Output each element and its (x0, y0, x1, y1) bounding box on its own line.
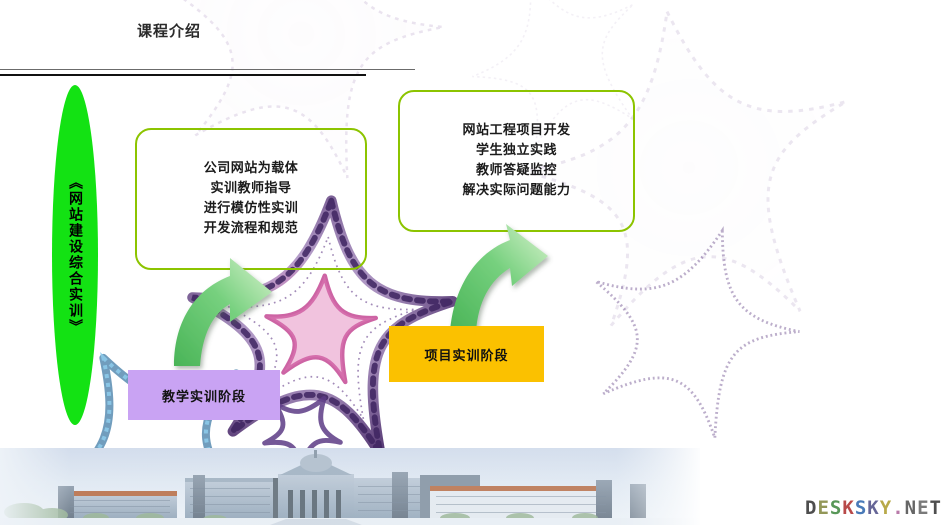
project-stage-box: 网站工程项目开发 学生独立实践 教师答疑监控 解决实际问题能力 (398, 90, 635, 232)
teaching-stage-box-lines: 公司网站为载体 实训教师指导 进行模仿性实训 开发流程和规范 (204, 159, 299, 240)
box-line: 公司网站为载体 (204, 159, 299, 179)
box-line: 解决实际问题能力 (462, 181, 570, 201)
header-divider-thin (0, 69, 415, 70)
chip-project-stage-label: 项目实训阶段 (424, 345, 508, 364)
project-stage-box-lines: 网站工程项目开发 学生独立实践 教师答疑监控 解决实际问题能力 (462, 121, 570, 202)
watermark-letter: T (930, 497, 942, 519)
watermark-letter: E (917, 497, 929, 519)
campus-photo (0, 448, 700, 525)
watermark-letter: E (817, 497, 829, 519)
header-divider-thick (0, 74, 366, 76)
box-line: 教师答疑监控 (462, 161, 570, 181)
watermark-letter: K (867, 497, 879, 519)
teaching-stage-box: 公司网站为载体 实训教师指导 进行模仿性实训 开发流程和规范 (135, 128, 367, 270)
chip-project-stage: 项目实训阶段 (389, 326, 544, 382)
watermark-letter: N (905, 497, 917, 519)
watermark-desksky: DESKSKY.NET (805, 497, 942, 519)
course-title-label: 《网站建设综合实训》 (52, 85, 98, 425)
chip-teaching-stage: 教学实训阶段 (128, 370, 280, 420)
watermark-letter: S (830, 497, 842, 519)
watermark-letter: S (855, 497, 867, 519)
slide-canvas: 课程介绍 《网站建设综合实训》 公司网站为载体 实训教师指导 进行模仿性实训 开… (0, 0, 950, 525)
box-line: 开发流程和规范 (204, 219, 299, 239)
watermark-letter: . (892, 497, 904, 519)
green-curved-arrow-left (168, 252, 278, 372)
box-line: 进行模仿性实训 (204, 199, 299, 219)
page-title: 课程介绍 (137, 20, 201, 41)
watermark-letter: D (805, 497, 817, 519)
watermark-letter: Y (880, 497, 892, 519)
box-line: 网站工程项目开发 (462, 121, 570, 141)
green-curved-arrow-right (448, 222, 554, 340)
box-line: 实训教师指导 (204, 179, 299, 199)
chip-teaching-stage-label: 教学实训阶段 (162, 386, 246, 405)
watermark-letter: K (842, 497, 854, 519)
box-line: 学生独立实践 (462, 141, 570, 161)
course-title-oval: 《网站建设综合实训》 (52, 85, 98, 425)
